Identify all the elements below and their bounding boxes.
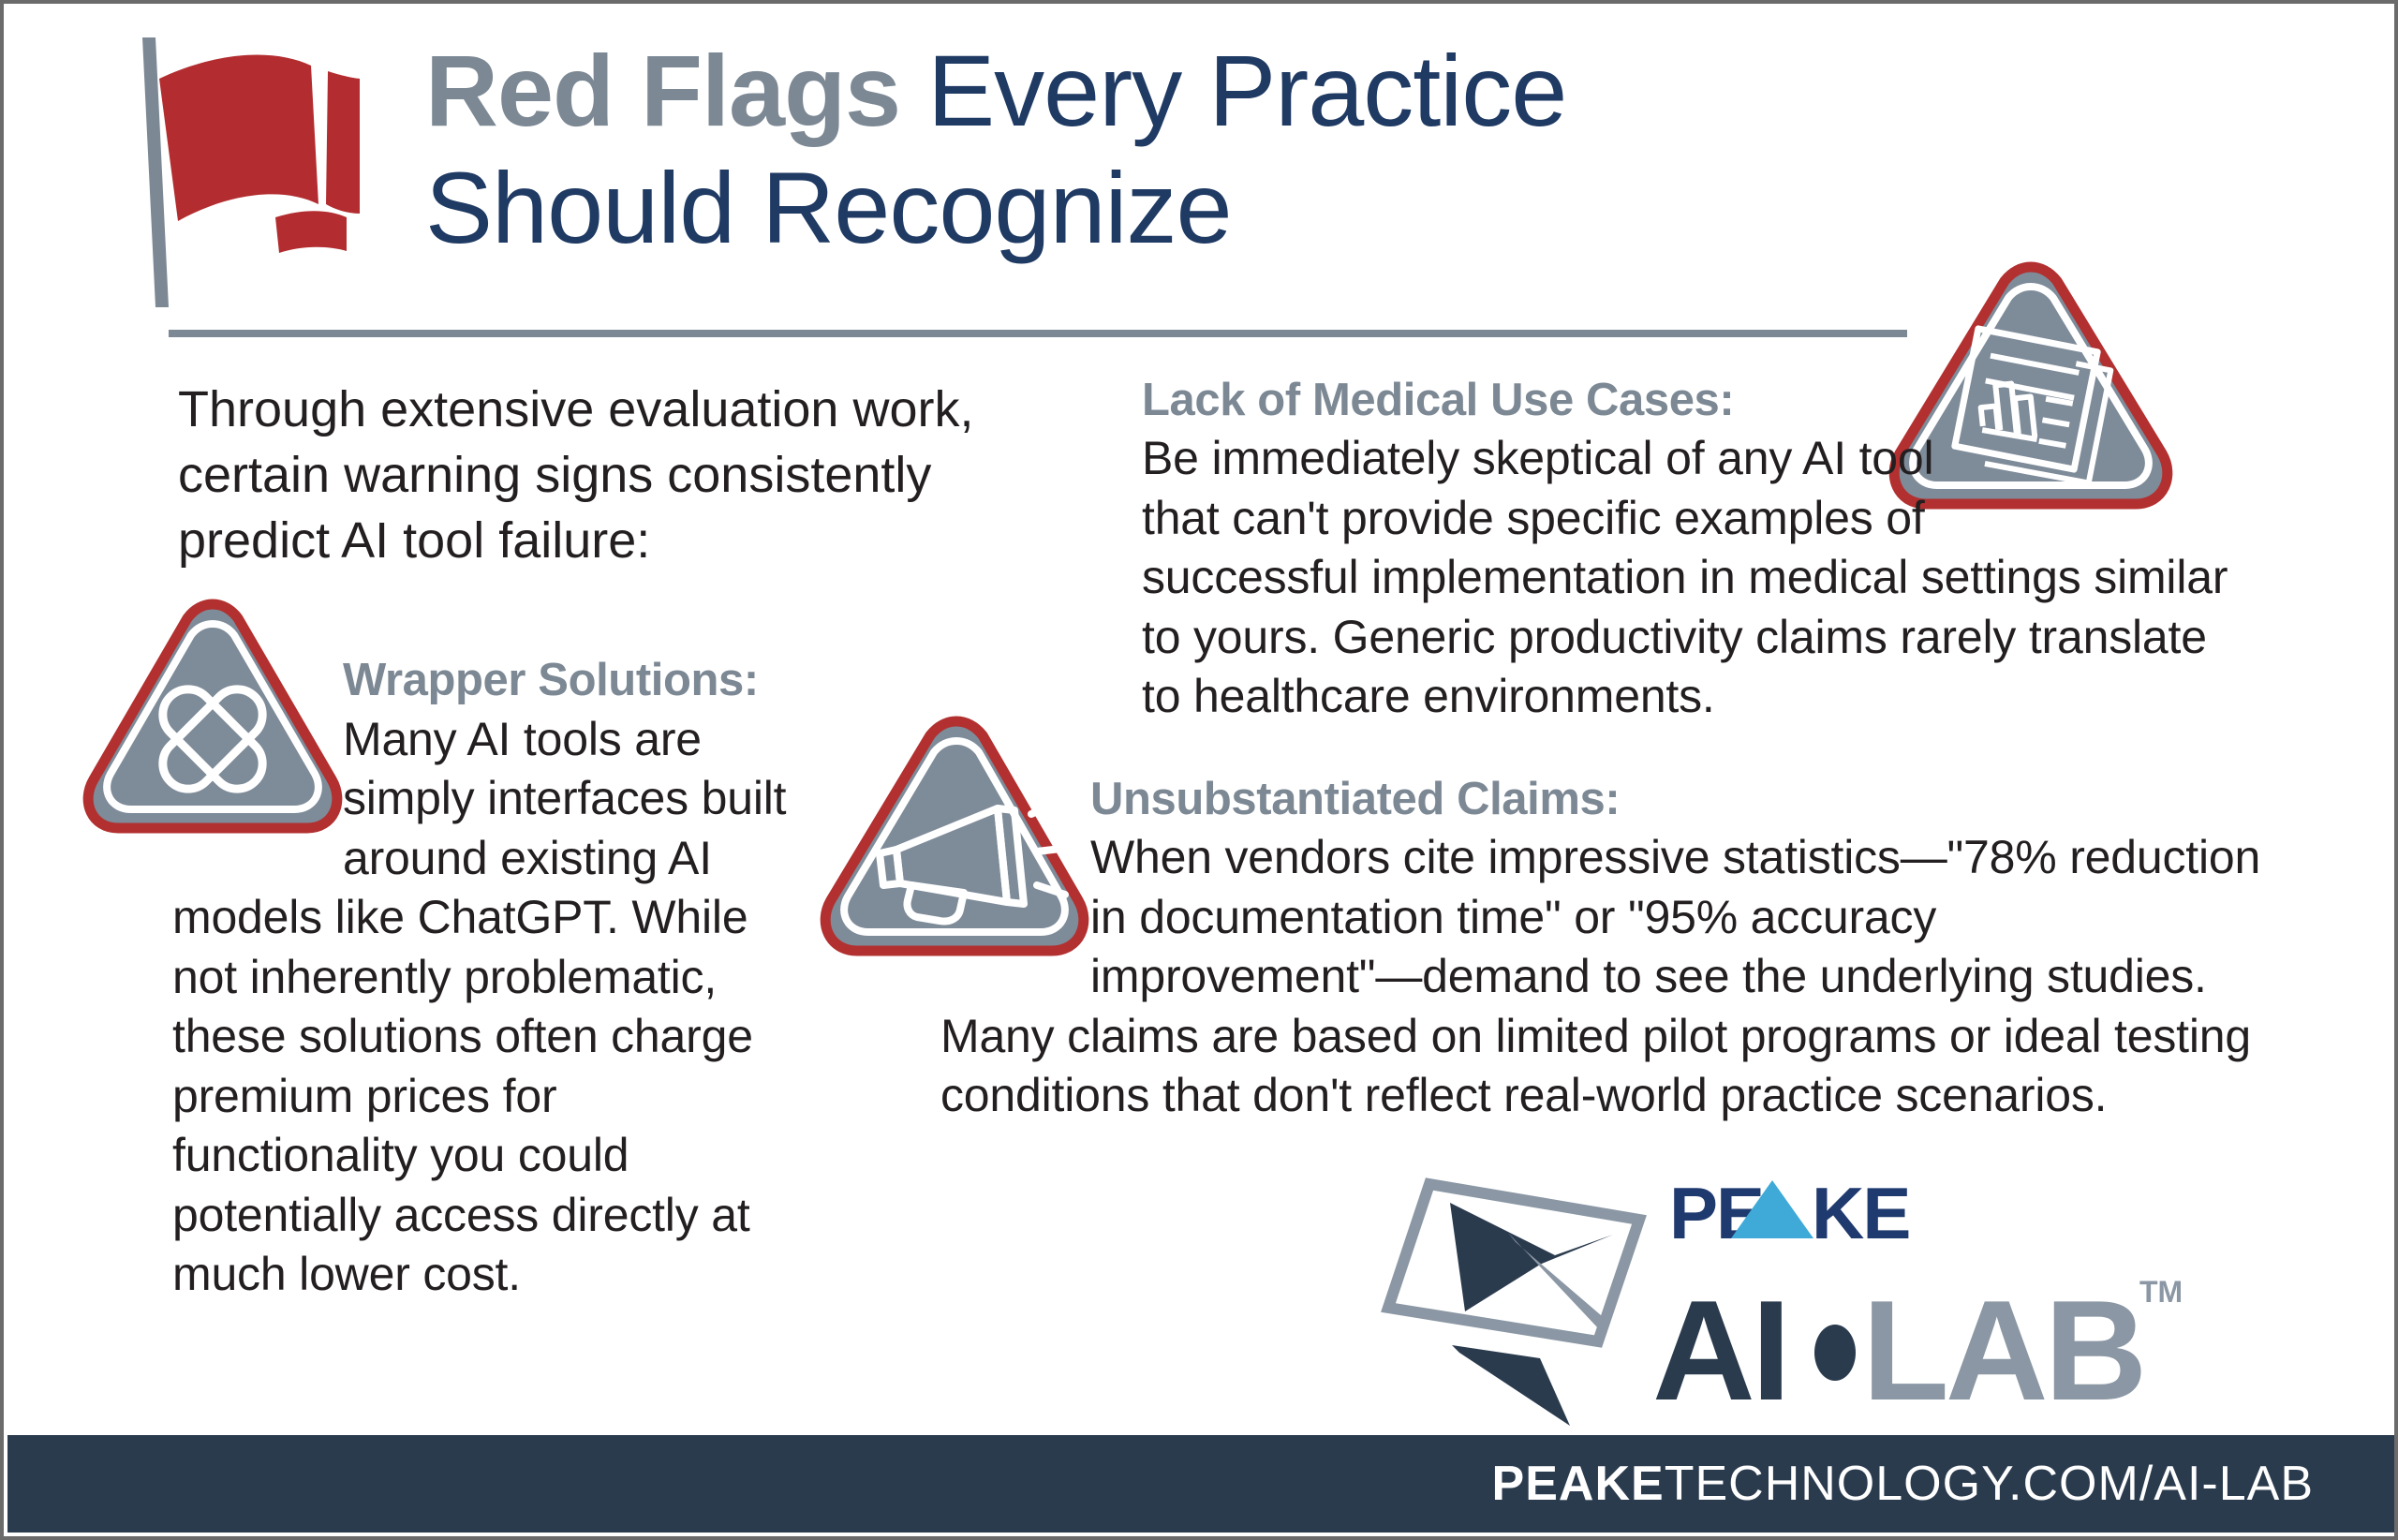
svg-text:KE: KE [1812, 1172, 1909, 1254]
section-lack-of-medical-use-cases: Lack of Medical Use Cases: Be immediatel… [1142, 371, 2257, 727]
ai-lab-wordmark: AI LAB TM [1652, 1271, 2183, 1428]
svg-text:LAB: LAB [1862, 1271, 2143, 1428]
footer-url[interactable]: PEAKETECHNOLOGY.COM/AI-LAB [1492, 1456, 2314, 1512]
icon-text-spacer [940, 770, 1090, 993]
intro-paragraph: Through extensive evaluation work, certa… [178, 377, 1049, 574]
peake-ai-lab-logo: PE KE AI LAB TM [1371, 1165, 2196, 1428]
title-line-2: Should Recognize [425, 149, 2018, 266]
svg-text:PE: PE [1669, 1172, 1763, 1254]
section-unsubstantiated-claims: Unsubstantiated Claims: When vendors cit… [940, 770, 2271, 1126]
red-flag-icon [135, 30, 360, 311]
section-heading: Unsubstantiated Claims: [940, 770, 2271, 828]
title-highlight: Red Flags [425, 34, 900, 147]
section-body: When vendors cite impressive statistics—… [940, 831, 2260, 1121]
icon-text-spacer [1947, 371, 2257, 538]
footer-url-rest: TECHNOLOGY.COM/AI-LAB [1665, 1457, 2314, 1511]
footer-url-brand: PEAKE [1492, 1457, 1665, 1511]
page-title: Red Flags Every Practice Should Recogniz… [425, 32, 2018, 267]
footer-bar: PEAKETECHNOLOGY.COM/AI-LAB [7, 1435, 2398, 1533]
title-line-1: Red Flags Every Practice [425, 32, 2018, 149]
svg-text:TM: TM [2139, 1275, 2183, 1309]
section-wrapper-solutions: Wrapper Solutions: Many AI tools are sim… [172, 650, 791, 1305]
section-heading: Wrapper Solutions: [343, 655, 759, 705]
title-line-1-rest: Every Practice [900, 34, 1566, 147]
peake-wordmark: PE KE [1669, 1172, 1909, 1254]
infographic-page: Red Flags Every Practice Should Recogniz… [0, 0, 2398, 1540]
header-divider [169, 330, 1907, 337]
peake-envelope-mark [1388, 1184, 1639, 1426]
icon-text-spacer [172, 650, 343, 875]
svg-text:AI: AI [1652, 1271, 1787, 1428]
